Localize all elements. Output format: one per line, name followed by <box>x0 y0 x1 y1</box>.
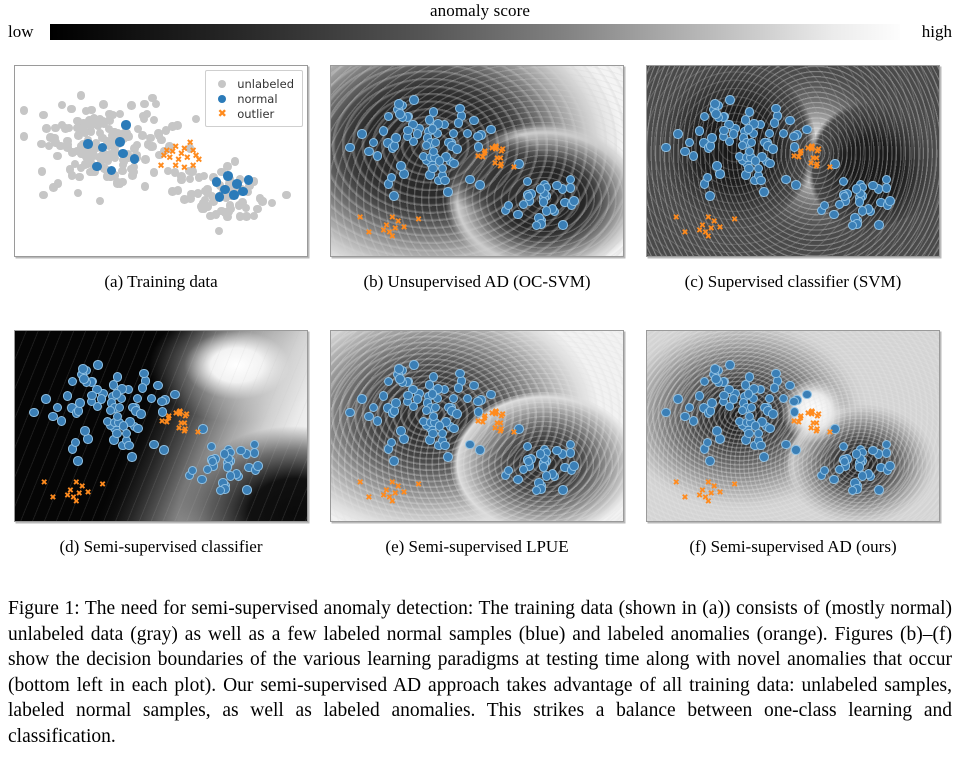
data-point <box>268 199 277 208</box>
data-point <box>539 197 549 207</box>
outlier-marker: ✖ <box>186 139 194 148</box>
data-point <box>712 426 722 436</box>
data-point <box>711 374 721 384</box>
data-point <box>710 99 720 109</box>
data-point <box>440 176 450 186</box>
data-point <box>469 116 479 126</box>
data-point <box>789 132 799 142</box>
data-point <box>829 210 839 220</box>
data-point <box>759 187 769 197</box>
data-point <box>707 133 717 143</box>
outlier-marker: ✖ <box>499 146 506 155</box>
data-point <box>75 398 85 408</box>
outlier-marker: ✖ <box>172 162 180 171</box>
data-point <box>99 100 108 109</box>
data-point <box>88 148 97 157</box>
data-point <box>79 374 89 384</box>
data-point <box>394 99 404 109</box>
data-point <box>282 191 291 200</box>
data-point <box>238 187 248 197</box>
data-point <box>83 139 93 149</box>
data-point <box>115 137 125 147</box>
data-point <box>771 369 781 379</box>
data-point <box>74 189 83 198</box>
data-point <box>513 475 523 485</box>
outlier-marker: ✖ <box>731 481 738 490</box>
data-point <box>882 183 892 193</box>
data-point <box>395 109 405 119</box>
data-point <box>73 456 83 466</box>
data-point <box>118 178 127 187</box>
data-point <box>96 197 105 206</box>
outlier-marker: ✖ <box>815 411 822 420</box>
data-point <box>768 144 778 154</box>
data-point <box>855 462 865 472</box>
data-point <box>695 391 705 401</box>
data-point <box>63 391 73 401</box>
data-point <box>74 406 84 416</box>
data-point <box>768 409 778 419</box>
data-point <box>820 201 830 211</box>
data-point <box>187 190 196 199</box>
outlier-marker: ✖ <box>73 498 80 507</box>
data-point <box>695 126 705 136</box>
data-point <box>391 133 401 143</box>
panel-d-semi-supervised-classifier: ✖✖✖✖✖✖✖✖✖✖✖✖✖✖✖✖✖✖✖✖✖✖✖✖✖✖✖✖ <box>14 330 308 522</box>
data-point <box>379 126 389 136</box>
data-point <box>66 165 75 174</box>
outlier-marker: ✖ <box>731 216 738 225</box>
data-point <box>357 129 367 139</box>
data-point <box>729 129 739 139</box>
data-point <box>569 461 579 471</box>
data-point <box>852 184 862 194</box>
data-point <box>719 391 729 401</box>
legend-item-unlabeled: unlabeled <box>212 76 294 91</box>
data-point <box>390 406 400 416</box>
data-point <box>852 449 862 459</box>
data-point <box>855 197 865 207</box>
outlier-marker: ✖ <box>479 154 486 163</box>
data-point <box>223 213 232 222</box>
data-point <box>820 466 830 476</box>
data-point <box>96 115 105 124</box>
plot-area-d: ✖✖✖✖✖✖✖✖✖✖✖✖✖✖✖✖✖✖✖✖✖✖✖✖✖✖✖✖ <box>15 331 307 521</box>
data-point <box>244 175 254 185</box>
data-point <box>250 448 260 458</box>
data-point <box>712 161 722 171</box>
data-point <box>226 201 235 210</box>
data-point <box>542 471 552 481</box>
data-point <box>20 132 29 141</box>
panel-f-caption: (f) Semi-supervised AD (ours) <box>646 537 940 557</box>
data-point <box>802 125 812 135</box>
outlier-marker: ✖ <box>681 229 688 238</box>
data-point <box>384 112 394 122</box>
outlier-marker: ✖ <box>716 223 723 232</box>
data-point <box>858 206 868 216</box>
data-point <box>391 398 401 408</box>
data-point <box>73 147 82 156</box>
data-point <box>449 159 459 169</box>
data-point <box>710 364 720 374</box>
data-point <box>868 446 878 456</box>
data-point <box>486 125 496 135</box>
outlier-marker: ✖ <box>183 411 190 420</box>
outlier-marker: ✖ <box>499 411 506 420</box>
panel-b-caption: (b) Unsupervised AD (OC-SVM) <box>330 272 624 292</box>
legend-label: unlabeled <box>237 77 294 91</box>
data-point <box>770 383 780 393</box>
data-point <box>54 179 63 188</box>
data-point <box>785 381 795 391</box>
data-point <box>80 426 90 436</box>
legend-label: outlier <box>237 107 274 121</box>
data-point <box>124 441 134 451</box>
data-point <box>791 445 801 455</box>
panel-a-caption: (a) Training data <box>14 272 308 292</box>
data-point <box>223 171 233 181</box>
data-point <box>791 180 801 190</box>
data-point <box>700 377 710 387</box>
data-point <box>127 165 136 174</box>
data-point <box>256 194 265 203</box>
plot-area-f: ✖✖✖✖✖✖✖✖✖✖✖✖✖✖✖✖✖✖✖✖✖✖✖✖✖✖✖✖ <box>647 331 939 521</box>
data-point <box>455 369 465 379</box>
colorbar-low-label: low <box>8 22 34 42</box>
outlier-marker: ✖ <box>163 419 170 428</box>
legend-item-outlier: ✖outlier <box>212 106 294 121</box>
data-point <box>242 485 252 495</box>
outlier-marker: ✖ <box>479 419 486 428</box>
data-point <box>168 122 177 131</box>
outlier-marker: ✖ <box>400 223 407 232</box>
data-point <box>82 107 91 116</box>
colorbar-title: anomaly score <box>0 1 960 21</box>
outlier-marker: ✖ <box>157 162 165 171</box>
data-point <box>756 441 766 451</box>
outlier-marker: ✖ <box>696 227 703 236</box>
outlier-marker: ✖ <box>357 214 364 223</box>
data-point <box>159 445 169 455</box>
data-point <box>63 143 72 152</box>
outlier-marker: ✖ <box>178 151 186 160</box>
data-point <box>38 167 47 176</box>
outlier-marker: ✖ <box>357 479 364 488</box>
data-point <box>229 190 239 200</box>
data-point <box>51 138 60 147</box>
data-point <box>140 115 149 124</box>
data-point <box>192 115 201 124</box>
data-point <box>136 409 146 419</box>
outlier-marker: ✖ <box>497 428 504 437</box>
data-point <box>395 374 405 384</box>
data-point <box>68 377 78 387</box>
data-point <box>771 104 781 114</box>
data-point <box>396 426 406 436</box>
data-point <box>785 116 795 126</box>
data-point <box>673 129 683 139</box>
data-point <box>197 202 206 211</box>
data-point <box>138 383 148 393</box>
data-point <box>542 206 552 216</box>
data-point <box>236 446 246 456</box>
data-point <box>475 445 485 455</box>
outlier-marker: ✖ <box>181 428 188 437</box>
data-point <box>87 391 97 401</box>
data-point <box>108 111 117 120</box>
data-point <box>454 118 464 128</box>
panel-a-training-data: ✖✖✖✖✖✖✖✖✖✖✖✖✖✖✖✖✖ unlabelednormal✖outlie… <box>14 65 308 257</box>
data-point <box>140 100 149 109</box>
data-point <box>452 409 462 419</box>
data-point <box>127 101 136 110</box>
data-point <box>536 184 546 194</box>
data-point <box>51 124 60 133</box>
outlier-marker: ✖ <box>160 153 168 162</box>
data-point <box>77 91 86 100</box>
data-point <box>106 150 115 159</box>
outlier-marker: ✖ <box>813 428 820 437</box>
outlier-marker: ✖ <box>795 154 802 163</box>
outlier-marker: ✖ <box>389 498 396 507</box>
data-point <box>744 124 754 134</box>
data-point <box>475 180 485 190</box>
outlier-marker: ✖ <box>365 494 372 503</box>
data-point <box>215 192 225 202</box>
data-point <box>504 466 514 476</box>
outlier-marker: ✖ <box>808 144 815 153</box>
data-point <box>719 126 729 136</box>
data-point <box>130 154 140 164</box>
data-point <box>396 161 406 171</box>
data-point <box>121 120 131 130</box>
data-point <box>141 155 150 164</box>
outlier-marker: ✖ <box>705 233 712 242</box>
colorbar: anomaly score low high <box>0 0 960 48</box>
data-point <box>469 381 479 391</box>
data-point <box>428 389 438 399</box>
data-point <box>168 187 177 196</box>
data-point <box>725 360 735 370</box>
data-point <box>569 196 579 206</box>
data-point <box>882 448 892 458</box>
data-point <box>536 449 546 459</box>
data-point <box>39 111 48 120</box>
legend-item-normal: normal <box>212 91 294 106</box>
data-point <box>250 212 259 221</box>
data-point <box>759 452 769 462</box>
data-point <box>157 397 167 407</box>
data-point <box>186 175 195 184</box>
data-point <box>170 390 180 400</box>
outlier-marker: ✖ <box>84 488 91 497</box>
data-point <box>455 104 465 114</box>
outlier-marker: ✖ <box>415 216 422 225</box>
data-point <box>552 181 562 191</box>
data-point <box>765 424 775 434</box>
data-point <box>711 109 721 119</box>
outlier-marker: ✖ <box>389 233 396 242</box>
data-point <box>706 141 716 151</box>
outlier-marker: ✖ <box>380 227 387 236</box>
data-point <box>539 462 549 472</box>
data-point <box>725 95 735 105</box>
outlier-marker: ✖ <box>815 146 822 155</box>
colorbar-high-label: high <box>922 22 952 42</box>
data-point <box>253 461 263 471</box>
data-point <box>242 212 251 221</box>
outlier-marker: ✖ <box>673 479 680 488</box>
data-point <box>744 389 754 399</box>
outlier-marker: ✖ <box>510 428 517 437</box>
data-point <box>197 475 207 485</box>
outlier-marker: ✖ <box>808 409 815 418</box>
data-point <box>148 142 157 151</box>
data-point <box>473 397 483 407</box>
outlier-marker: ✖ <box>176 409 183 418</box>
outlier-marker: ✖ <box>194 428 201 437</box>
data-point <box>67 105 76 114</box>
outlier-marker: ✖ <box>400 488 407 497</box>
data-point <box>413 394 423 404</box>
data-point <box>566 448 576 458</box>
data-point <box>504 201 514 211</box>
data-point <box>566 183 576 193</box>
plot-area-b: ✖✖✖✖✖✖✖✖✖✖✖✖✖✖✖✖✖✖✖✖✖✖✖✖✖✖✖✖ <box>331 66 623 256</box>
panel-d-caption: (d) Semi-supervised classifier <box>14 537 308 557</box>
data-point <box>58 101 67 110</box>
data-point <box>729 394 739 404</box>
data-point <box>92 162 102 172</box>
data-point <box>874 220 884 230</box>
data-point <box>215 227 224 236</box>
data-point <box>829 475 839 485</box>
colorbar-gradient <box>50 24 900 40</box>
data-point <box>389 191 399 201</box>
data-point <box>885 461 895 471</box>
data-point <box>200 172 209 181</box>
figure-caption: Figure 1: The need for semi-supervised a… <box>8 596 952 750</box>
data-point <box>756 176 766 186</box>
outlier-marker: ✖ <box>673 214 680 223</box>
data-point <box>93 360 103 370</box>
data-point <box>874 485 884 495</box>
data-point <box>443 452 453 462</box>
outlier-marker: ✖ <box>492 409 499 418</box>
data-point <box>203 188 212 197</box>
outlier-marker: ✖ <box>181 164 189 173</box>
data-point <box>390 141 400 151</box>
outlier-marker: ✖ <box>380 492 387 501</box>
data-point <box>97 394 107 404</box>
outlier-marker: ✖ <box>64 492 71 501</box>
data-point <box>116 110 125 119</box>
outlier-marker: ✖ <box>705 498 712 507</box>
data-point <box>133 424 143 434</box>
data-point <box>41 394 51 404</box>
data-point <box>443 187 453 197</box>
outlier-marker: ✖ <box>365 229 372 238</box>
data-point <box>177 176 186 185</box>
outlier-marker: ✖ <box>716 488 723 497</box>
outlier-marker: ✖ <box>826 163 833 172</box>
outlier-marker: ✖ <box>415 481 422 490</box>
data-point <box>868 181 878 191</box>
data-point <box>802 390 812 400</box>
data-point <box>79 124 88 133</box>
data-point <box>473 132 483 142</box>
data-point <box>384 377 394 387</box>
data-point <box>379 391 389 401</box>
legend: unlabelednormal✖outlier <box>205 70 303 127</box>
data-point <box>75 173 84 182</box>
data-point <box>238 199 247 208</box>
data-point <box>689 416 699 426</box>
outlier-marker: ✖ <box>99 481 106 490</box>
data-point <box>707 398 717 408</box>
data-point <box>558 485 568 495</box>
panel-e-semi-supervised-lpue: ✖✖✖✖✖✖✖✖✖✖✖✖✖✖✖✖✖✖✖✖✖✖✖✖✖✖✖✖ <box>330 330 624 522</box>
data-point <box>789 397 799 407</box>
data-point <box>486 390 496 400</box>
data-point <box>139 369 149 379</box>
panel-c-supervised-classifier: ✖✖✖✖✖✖✖✖✖✖✖✖✖✖✖✖✖✖✖✖✖✖✖✖✖✖✖✖ <box>646 65 940 257</box>
data-point <box>57 416 67 426</box>
outlier-marker: ✖ <box>813 163 820 172</box>
data-point <box>37 140 46 149</box>
outlier-marker: ✖ <box>49 494 56 503</box>
data-point <box>409 95 419 105</box>
data-point <box>409 360 419 370</box>
data-point <box>700 112 710 122</box>
data-point <box>223 462 233 472</box>
data-point <box>61 124 70 133</box>
data-point <box>770 118 780 128</box>
outlier-marker: ✖ <box>169 149 177 158</box>
data-point <box>706 406 716 416</box>
outlier-marker: ✖ <box>681 494 688 503</box>
data-point <box>413 129 423 139</box>
data-point <box>20 106 29 115</box>
data-point <box>150 116 159 125</box>
outlier-marker: ✖ <box>826 428 833 437</box>
outlier-x-icon: ✖ <box>212 107 232 120</box>
data-point <box>558 220 568 230</box>
data-point <box>440 441 450 451</box>
outlier-marker: ✖ <box>510 163 517 172</box>
panel-b-unsupervised-ad: ✖✖✖✖✖✖✖✖✖✖✖✖✖✖✖✖✖✖✖✖✖✖✖✖✖✖✖✖ <box>330 65 624 257</box>
data-point <box>206 212 215 221</box>
outlier-marker: ✖ <box>195 157 203 166</box>
data-point <box>357 394 367 404</box>
data-point <box>403 126 413 136</box>
data-point <box>389 456 399 466</box>
data-point <box>449 424 459 434</box>
outlier-marker: ✖ <box>497 163 504 172</box>
data-point <box>127 452 137 462</box>
panel-c-caption: (c) Supervised classifier (SVM) <box>646 272 940 292</box>
data-point <box>153 381 163 391</box>
data-point <box>231 157 240 166</box>
data-point <box>513 210 523 220</box>
outlier-marker: ✖ <box>696 492 703 501</box>
data-point <box>220 449 230 459</box>
dot-icon <box>212 77 232 91</box>
data-point <box>373 416 383 426</box>
outlier-marker: ✖ <box>492 144 499 153</box>
data-point <box>112 389 122 399</box>
